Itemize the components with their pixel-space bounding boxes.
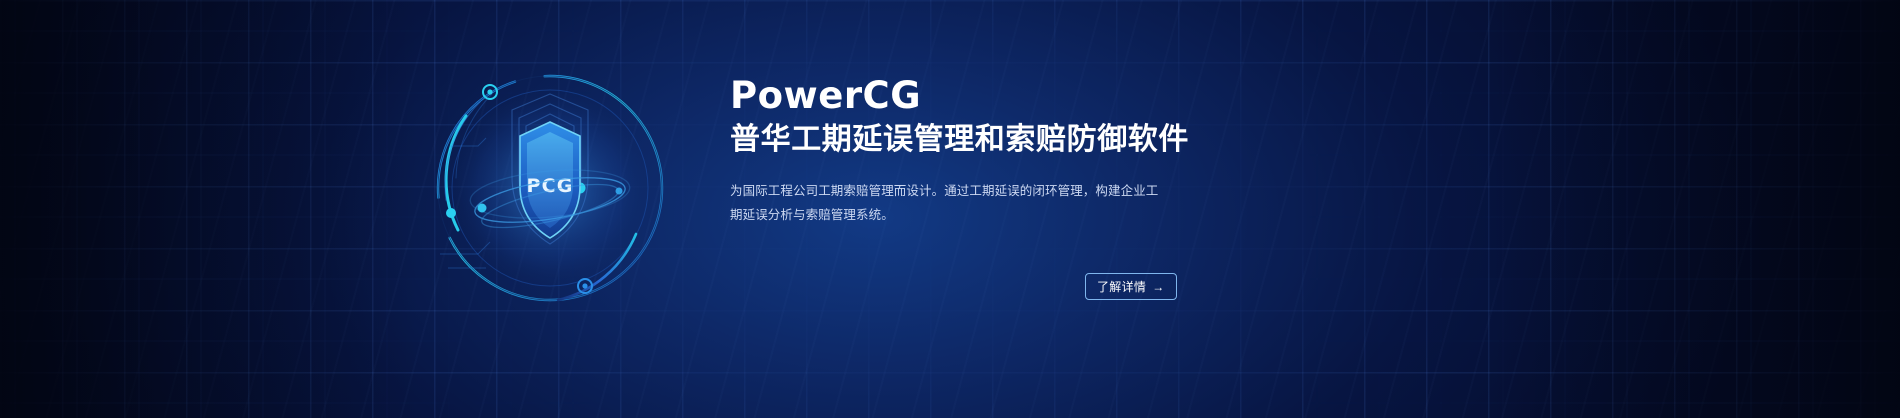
learn-more-button[interactable]: 了解详情 → [1085, 273, 1177, 300]
emblem-node-left [446, 208, 456, 218]
arrow-right-icon: → [1152, 281, 1164, 293]
product-hero-banner: PCG PowerCG 普华工 [0, 0, 1900, 418]
banner-text-block: PowerCG 普华工期延误管理和索赔防御软件 为国际工程公司工期索赔管理而设计… [730, 76, 1190, 227]
product-description: 为国际工程公司工期索赔管理而设计。通过工期延误的闭环管理，构建企业工期延误分析与… [730, 180, 1170, 226]
product-name-en: PowerCG [730, 76, 1190, 116]
product-name-cn: 普华工期延误管理和索赔防御软件 [730, 121, 1190, 159]
learn-more-label: 了解详情 [1097, 278, 1146, 295]
orbit-dot-left [478, 204, 487, 213]
powercg-logo-emblem: PCG [420, 58, 680, 318]
banner-content: PCG PowerCG 普华工 [0, 0, 1900, 418]
orbit-dot-right [616, 188, 623, 195]
